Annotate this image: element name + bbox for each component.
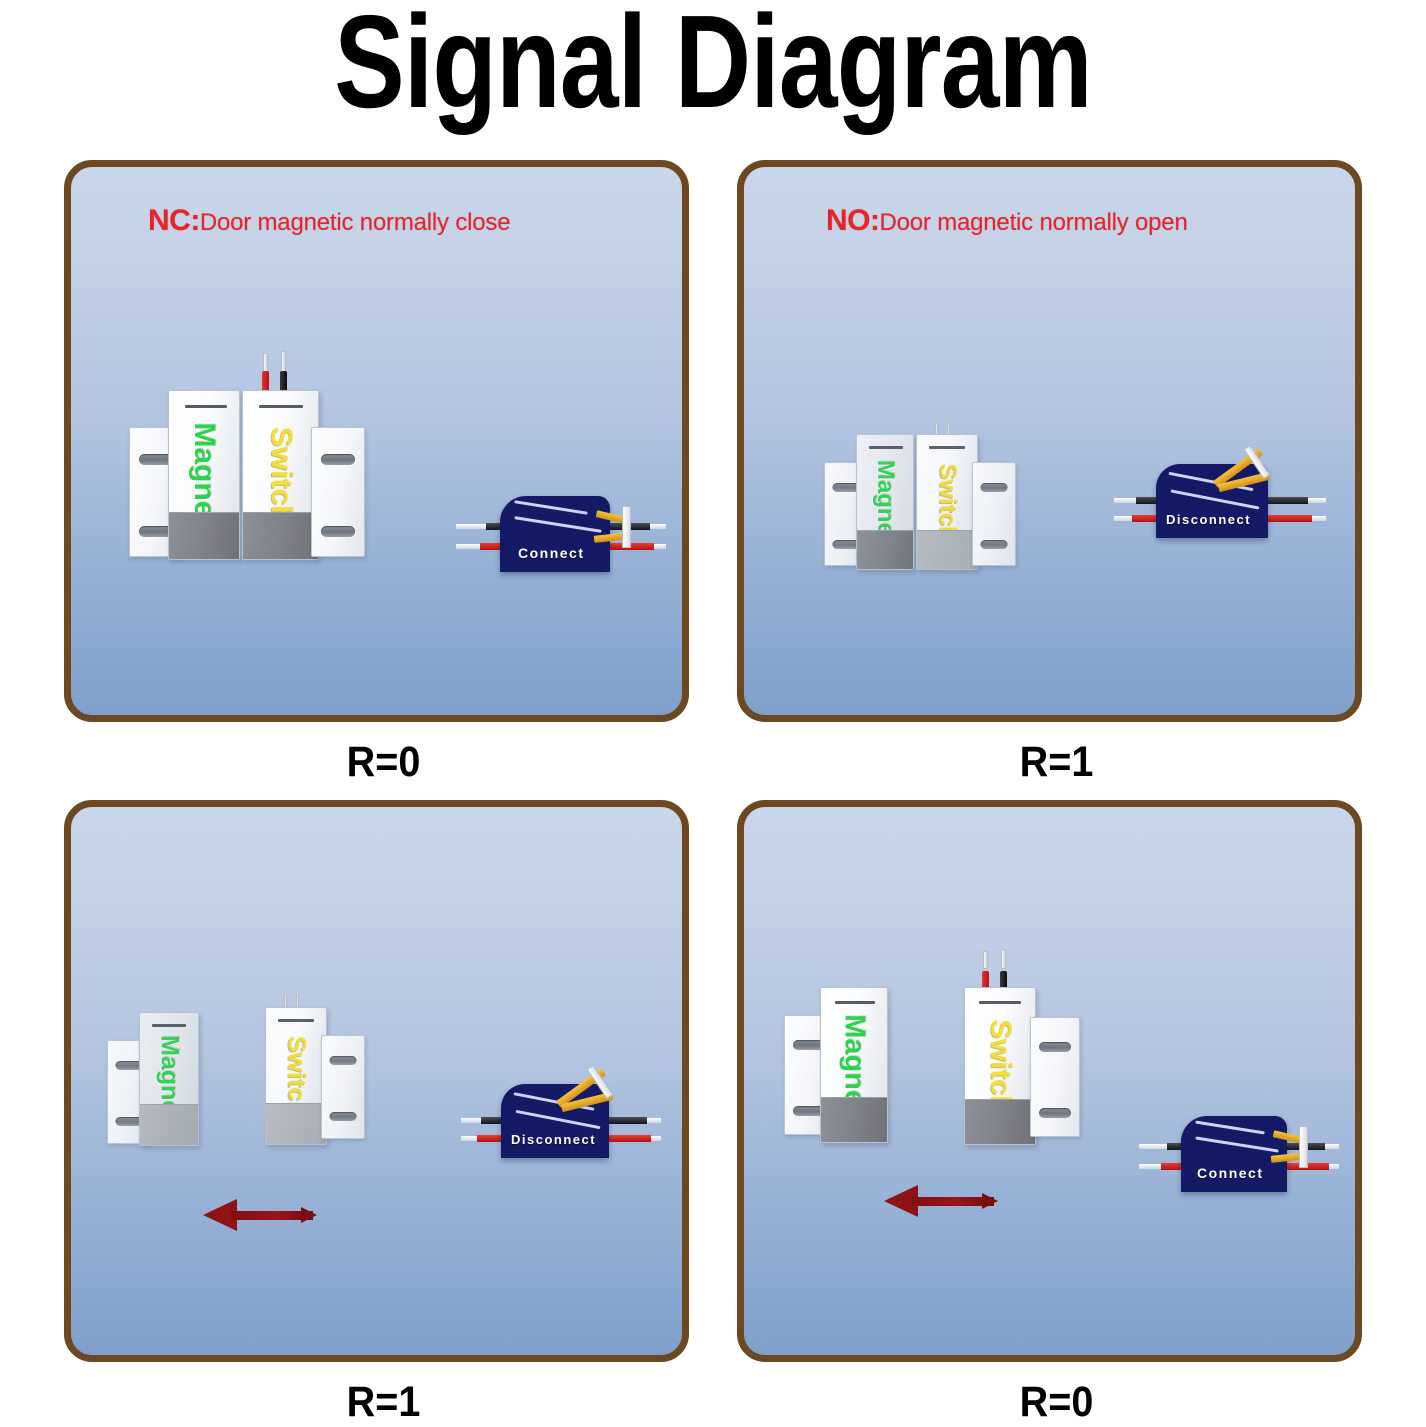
sensor-assembly-nc-closed: Magnet [117,357,447,587]
magnet-assembly-no-open: Magnet [774,967,934,1167]
panel-caption-r0-open: R=0 [763,1378,1351,1427]
panel-cell-nc-open: Magnet [64,800,703,1427]
magnet-base [140,1104,198,1145]
switch-vent-line [259,405,303,408]
flange-slot [981,540,1008,549]
panel-caption-r0: R=0 [90,738,678,787]
black-lead [1000,957,1007,989]
reed-terminal-post [622,506,631,548]
switch-body: Switch [916,434,978,570]
switch-vent-line [278,1019,314,1022]
panel-nc-open: Magnet [64,800,689,1362]
switch-base [266,1103,326,1144]
lead-pin [1001,949,1006,969]
magnet-vent-line [869,446,903,449]
panel-no-open: Magnet [737,800,1362,1362]
lead-pin [263,353,268,373]
switch-wire-leads [978,957,1022,989]
switch-mounting-flange [321,1035,365,1139]
motion-arrow-left [884,1185,994,1217]
reed-highlight [1195,1121,1265,1135]
reed-body: Disconnect [501,1084,609,1158]
lead-pin [983,951,988,969]
reed-state-label: Disconnect [1166,512,1251,527]
switch-vent-line [929,446,965,449]
red-lead [982,957,989,989]
reed-symbol-disconnect: Disconnect [461,1062,661,1162]
magnet-body: Magnet [856,434,914,570]
switch-body: Switch [265,1007,327,1145]
heading-desc-no: Door magnetic normally open [880,209,1188,236]
reed-symbol-disconnect: Disconnect [1114,442,1326,542]
flange-slot [321,526,355,537]
sensor-assembly-no-closed: Magnet Switch [814,412,1074,592]
magnet-base [169,512,239,559]
flange-slot [330,1056,357,1065]
flange-slot [981,483,1008,492]
reed-state-label: Connect [1197,1165,1264,1181]
switch-mounting-flange [311,427,365,557]
reed-highlight [1171,489,1260,509]
panel-heading-nc: NC:Door magnetic normally close [148,204,510,238]
reed-body: Connect [500,496,610,572]
flange-slot [1039,1108,1071,1118]
magnet-base [821,1097,887,1142]
flange-slot [321,454,355,465]
flange-slot [330,1112,357,1121]
magnet-body: Magnet [139,1012,199,1146]
reed-highlight [514,500,588,515]
motion-arrow-left [203,1199,313,1231]
magnet-body: Magnet [168,390,240,560]
reed-state-label: Connect [518,545,585,561]
magnet-vent-line [152,1024,186,1027]
panel-heading-no: NO:Door magnetic normally open [826,204,1188,238]
switch-wire-leads [258,357,304,393]
heading-abbr-no: NO: [826,204,880,237]
arrow-tail [982,1193,998,1209]
reed-state-label: Disconnect [511,1132,596,1147]
panel-cell-no-closed: NO:Door magnetic normally open Magnet [737,160,1376,787]
panel-caption-r1-open: R=1 [90,1378,678,1427]
switch-assembly-nc-open: Switch [259,985,419,1170]
switch-base [965,1099,1035,1144]
switch-vent-line [979,1001,1021,1004]
switch-mounting-flange [972,462,1016,566]
reed-highlight [514,516,601,533]
reed-highlight [516,1110,601,1129]
magnet-vent-line [835,1001,875,1004]
magnet-body: Magnet [820,987,888,1143]
switch-base [917,530,977,569]
panel-cell-no-open: Magnet [737,800,1376,1427]
reed-symbol-connect: Connect [1139,1102,1339,1202]
reed-body: Connect [1181,1116,1287,1192]
magnet-base [857,530,913,569]
switch-body: Switch [964,987,1036,1145]
reed-highlight [1195,1136,1278,1152]
magnet-assembly-nc-open: Magnet [99,992,249,1172]
switch-mounting-flange [1030,1017,1080,1137]
red-lead [262,357,269,393]
reed-symbol-connect: Connect [456,482,666,582]
panel-nc-closed: NC:Door magnetic normally close Magnet [64,160,689,722]
panel-grid: NC:Door magnetic normally close Magnet [0,0,1426,1426]
switch-base [243,512,318,559]
panel-cell-nc-closed: NC:Door magnetic normally close Magnet [64,160,703,787]
switch-assembly-no-open: Switch [954,957,1124,1167]
magnet-vent-line [185,405,227,408]
reed-terminal-post [1299,1126,1308,1168]
panel-no-closed: NO:Door magnetic normally open Magnet [737,160,1362,722]
flange-slot [1039,1042,1071,1052]
arrow-tail [301,1207,317,1223]
switch-label: Switch [264,427,298,524]
switch-body: Switch [242,390,319,560]
heading-desc-nc: Door magnetic normally close [200,209,511,236]
panel-caption-r1: R=1 [763,738,1351,787]
heading-abbr-nc: NC: [148,204,200,237]
black-lead [280,357,287,393]
lead-pin [281,351,286,373]
